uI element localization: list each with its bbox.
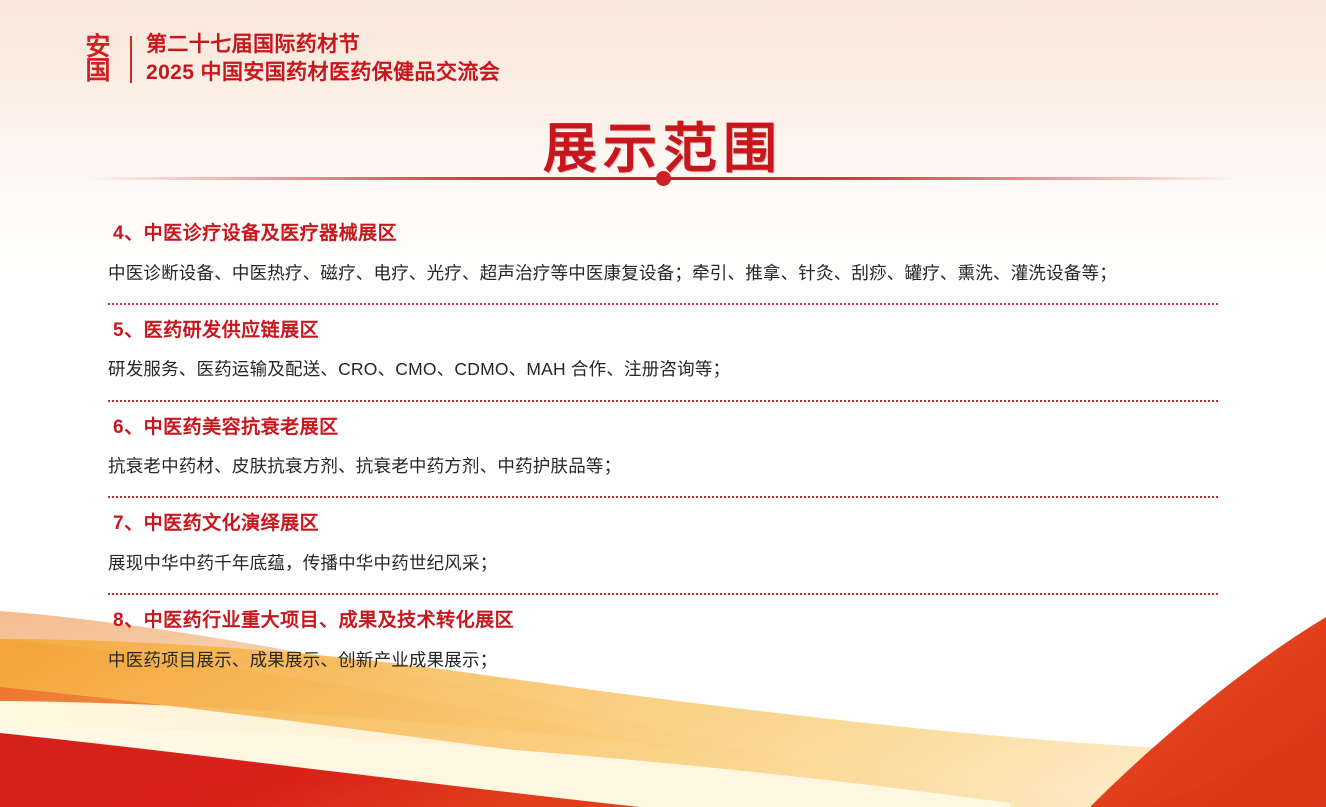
scope-section: 4、中医诊疗设备及医疗器械展区 中医诊断设备、中医热疗、磁疗、电疗、光疗、超声治… (0, 208, 1326, 305)
anguo-seal-logo-icon: 安 国 (78, 31, 118, 87)
scope-section: 8、中医药行业重大项目、成果及技术转化展区 中医药项目展示、成果展示、创新产业成… (0, 595, 1326, 673)
logo-char-bottom: 国 (85, 59, 110, 83)
scope-section: 7、中医药文化演绎展区 展现中华中药千年底蕴，传播中华中药世纪风采； (0, 498, 1326, 595)
event-subtitle-line: 2025 中国安国药材医药保健品交流会 (146, 59, 500, 87)
logo-divider-rule (130, 36, 132, 83)
scope-section-heading: 4、中医诊疗设备及医疗器械展区 (0, 208, 1326, 249)
scope-section-heading: 8、中医药行业重大项目、成果及技术转化展区 (0, 595, 1326, 636)
scope-section: 5、医药研发供应链展区 研发服务、医药运输及配送、CRO、CMO、CDMO、MA… (0, 305, 1326, 402)
exhibition-scope-list: 4、中医诊疗设备及医疗器械展区 中医诊断设备、中医热疗、磁疗、电疗、光疗、超声治… (0, 208, 1326, 690)
event-name-line: 第二十七届国际药材节 (146, 31, 500, 59)
scope-section: 6、中医药美容抗衰老展区 抗衰老中药材、皮肤抗衰方剂、抗衰老中药方剂、中药护肤品… (0, 402, 1326, 499)
title-divider-dot-icon (656, 171, 671, 186)
slide-root: 安 国 第二十七届国际药材节 2025 中国安国药材医药保健品交流会 展示范围 … (0, 0, 1326, 807)
brand-header: 安 国 第二十七届国际药材节 2025 中国安国药材医药保健品交流会 (78, 30, 500, 88)
header-text-block: 第二十七届国际药材节 2025 中国安国药材医药保健品交流会 (146, 31, 500, 86)
scope-section-body: 中医药项目展示、成果展示、创新产业成果展示； (0, 636, 1326, 673)
scope-section-body: 抗衰老中药材、皮肤抗衰方剂、抗衰老中药方剂、中药护肤品等； (0, 442, 1326, 479)
scope-section-body: 展现中华中药千年底蕴，传播中华中药世纪风采； (0, 539, 1326, 576)
scope-section-heading: 7、中医药文化演绎展区 (0, 498, 1326, 539)
scope-section-body: 研发服务、医药运输及配送、CRO、CMO、CDMO、MAH 合作、注册咨询等； (0, 345, 1326, 382)
scope-section-heading: 6、中医药美容抗衰老展区 (0, 402, 1326, 443)
scope-section-heading: 5、医药研发供应链展区 (0, 305, 1326, 346)
scope-section-body: 中医诊断设备、中医热疗、磁疗、电疗、光疗、超声治疗等中医康复设备；牵引、推拿、针… (0, 249, 1326, 286)
